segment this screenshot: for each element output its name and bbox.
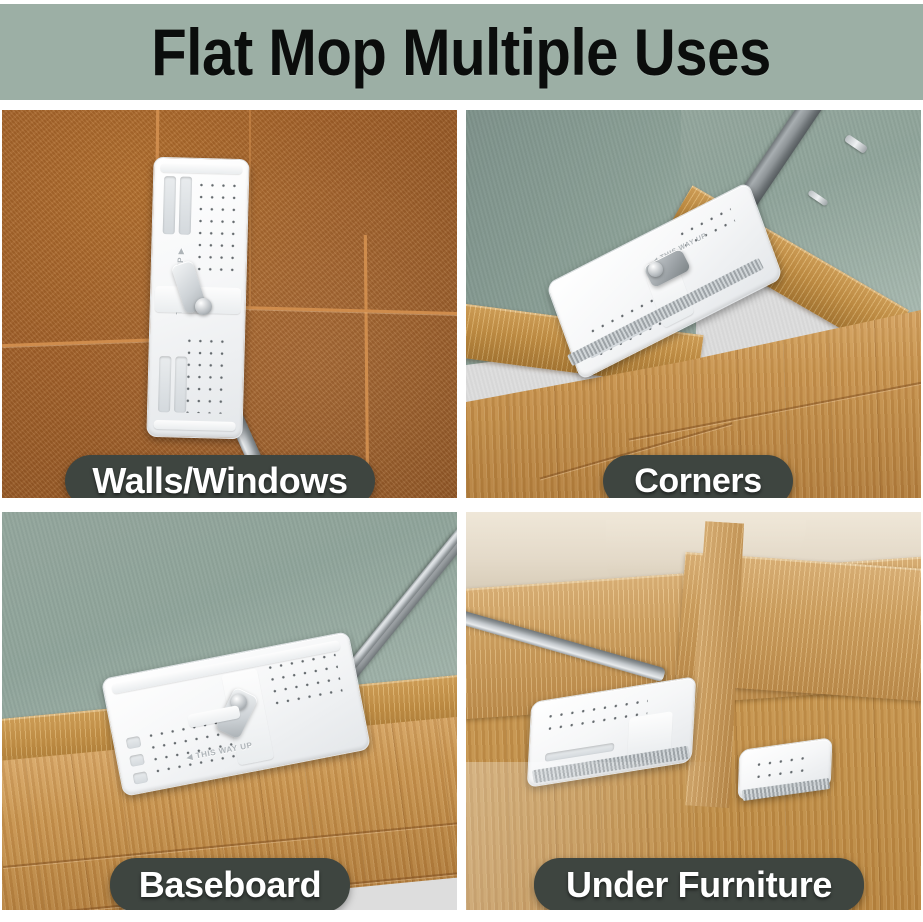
panel-baseboard: ◀ THIS WAY UP Baseboard <box>2 512 457 910</box>
panel-label-text: Corners <box>634 464 762 498</box>
panel-label-walls-windows: Walls/Windows <box>65 455 375 498</box>
scene-baseboard: ◀ THIS WAY UP <box>2 512 457 910</box>
scene-corner-floor: ◀ THIS WAY UP <box>466 110 921 498</box>
panel-under-furniture: Under Furniture <box>466 512 921 910</box>
mop-slot <box>163 176 177 234</box>
header-banner: Flat Mop Multiple Uses <box>0 4 923 100</box>
mop-slot <box>174 356 187 412</box>
product-infographic: Flat Mop Multiple Uses THIS WAY UP ▶ <box>0 0 923 922</box>
scene-tiled-wall: THIS WAY UP ▶ <box>2 110 457 498</box>
mop-ridge <box>160 163 242 174</box>
mop-ridge <box>154 420 236 431</box>
grout-line <box>249 110 251 310</box>
panel-label-baseboard: Baseboard <box>110 858 350 910</box>
panel-label-text: Baseboard <box>139 867 321 903</box>
mop-slot <box>133 771 149 784</box>
scene-under-furniture <box>466 512 921 910</box>
mop-slot <box>129 754 145 767</box>
panel-walls-windows: THIS WAY UP ▶ Walls/Windows <box>2 110 457 498</box>
page-title: Flat Mop Multiple Uses <box>152 19 772 85</box>
panel-label-text: Under Furniture <box>566 867 832 903</box>
mop-slot <box>158 356 171 412</box>
panel-label-corners: Corners <box>603 455 793 498</box>
panel-label-under-furniture: Under Furniture <box>534 858 864 910</box>
mop-pivot <box>648 262 663 277</box>
mop-perforations <box>182 335 230 414</box>
mop-pivot <box>195 298 212 315</box>
panel-corners: ◀ THIS WAY UP Corners <box>466 110 921 498</box>
mop-slot <box>126 736 142 749</box>
mop-perforations <box>194 179 238 272</box>
panel-label-text: Walls/Windows <box>92 463 347 498</box>
mop-perforations <box>753 751 809 779</box>
mop-slot <box>179 176 193 234</box>
